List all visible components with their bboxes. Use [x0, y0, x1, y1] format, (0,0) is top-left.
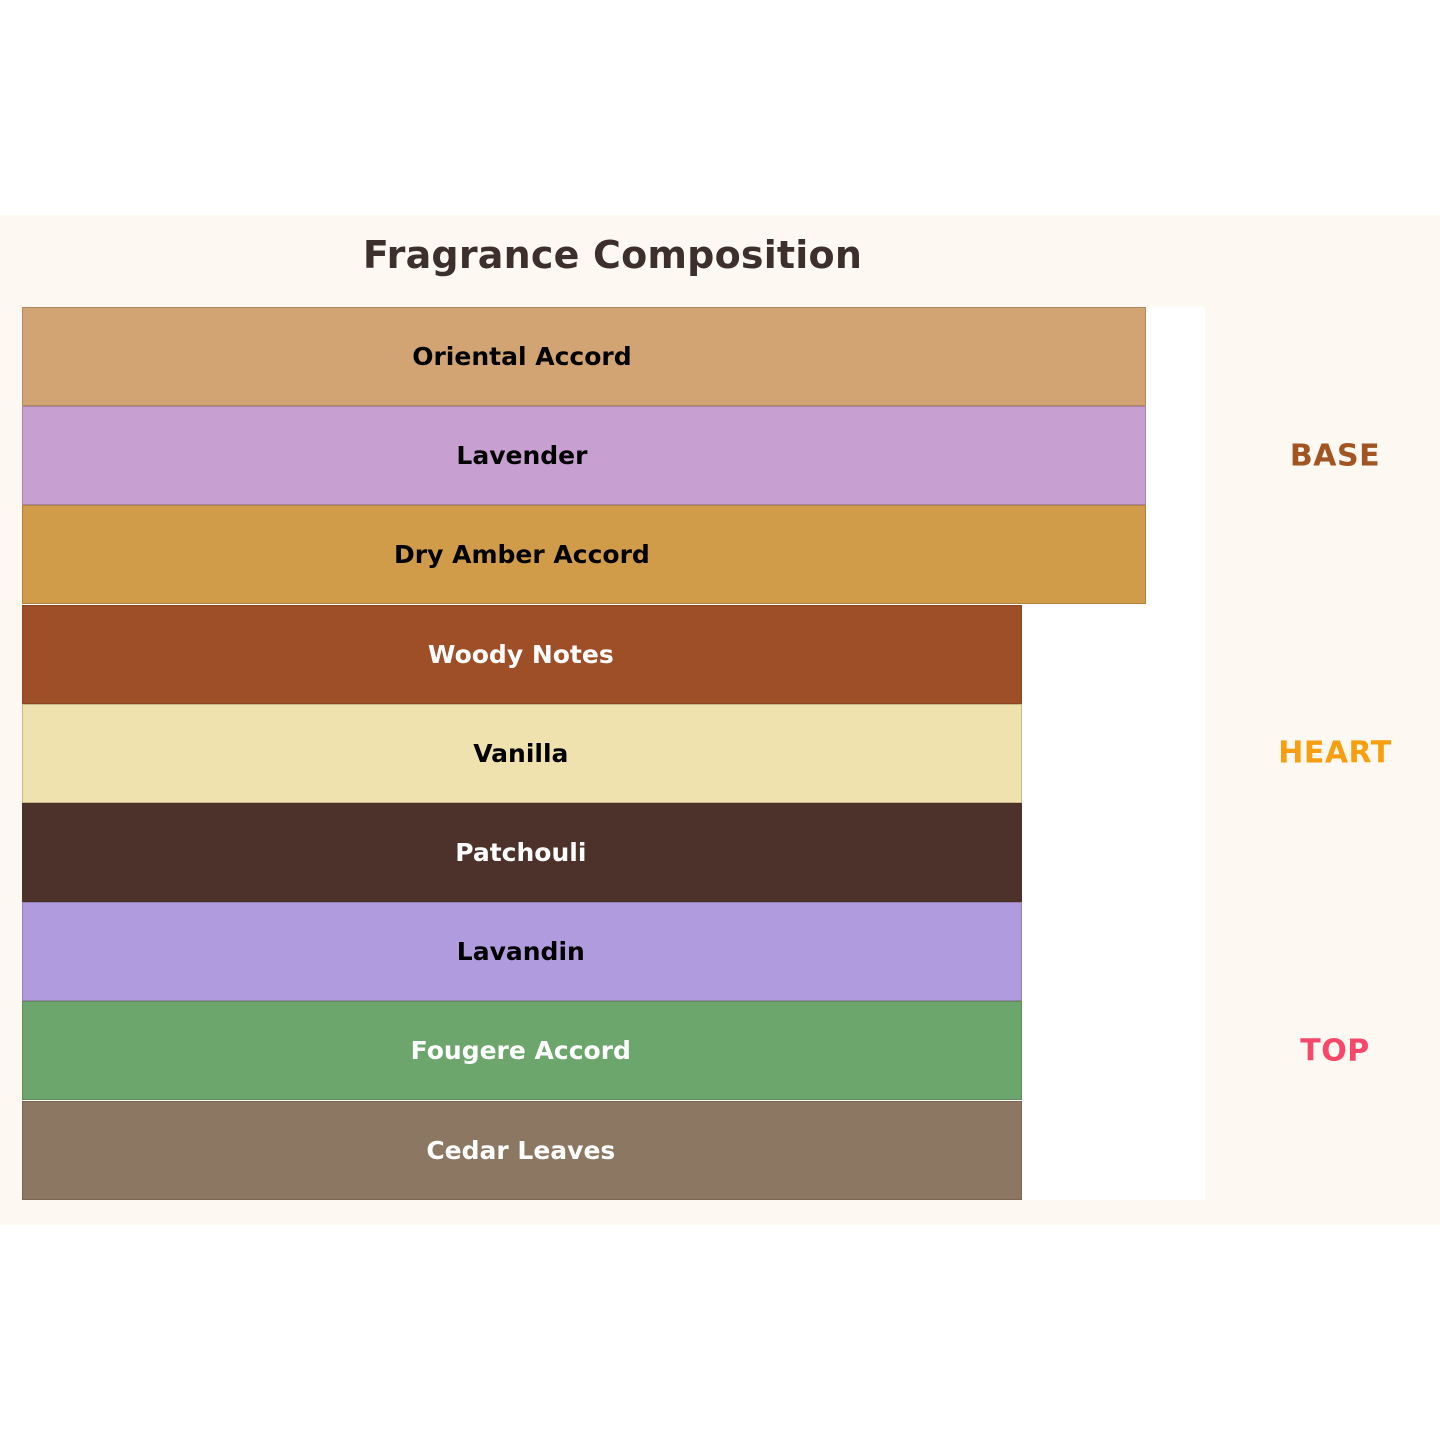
bar-dry-amber-accord[interactable]: Dry Amber Accord: [22, 505, 1146, 604]
bar-label: Fougere Accord: [411, 1036, 631, 1065]
bar-fougere-accord[interactable]: Fougere Accord: [22, 1001, 1022, 1100]
bar-label: Lavender: [456, 441, 587, 470]
stage-label-top: TOP: [1300, 1034, 1369, 1069]
bar-label: Vanilla: [473, 739, 568, 768]
bar-lavender[interactable]: Lavender: [22, 406, 1146, 505]
bar-label: Woody Notes: [428, 640, 614, 669]
bar-lavandin[interactable]: Lavandin: [22, 902, 1022, 1001]
bar-woody-notes[interactable]: Woody Notes: [22, 605, 1022, 704]
stage-label-base: BASE: [1290, 438, 1380, 473]
stage-label-heart: HEART: [1278, 736, 1392, 771]
bar-oriental-accord[interactable]: Oriental Accord: [22, 307, 1146, 406]
page-title: Fragrance Composition: [0, 233, 1225, 277]
bar-label: Lavandin: [457, 937, 585, 966]
bar-cedar-leaves[interactable]: Cedar Leaves: [22, 1101, 1022, 1200]
plot-area: Oriental AccordLavenderDry Amber AccordW…: [22, 307, 1205, 1200]
bar-patchouli[interactable]: Patchouli: [22, 803, 1022, 902]
chart-figure: Fragrance Composition Oriental AccordLav…: [0, 215, 1440, 1225]
bar-label: Cedar Leaves: [426, 1136, 615, 1165]
bar-label: Dry Amber Accord: [394, 540, 650, 569]
bar-label: Patchouli: [455, 838, 586, 867]
bar-label: Oriental Accord: [412, 342, 631, 371]
bar-vanilla[interactable]: Vanilla: [22, 704, 1022, 803]
